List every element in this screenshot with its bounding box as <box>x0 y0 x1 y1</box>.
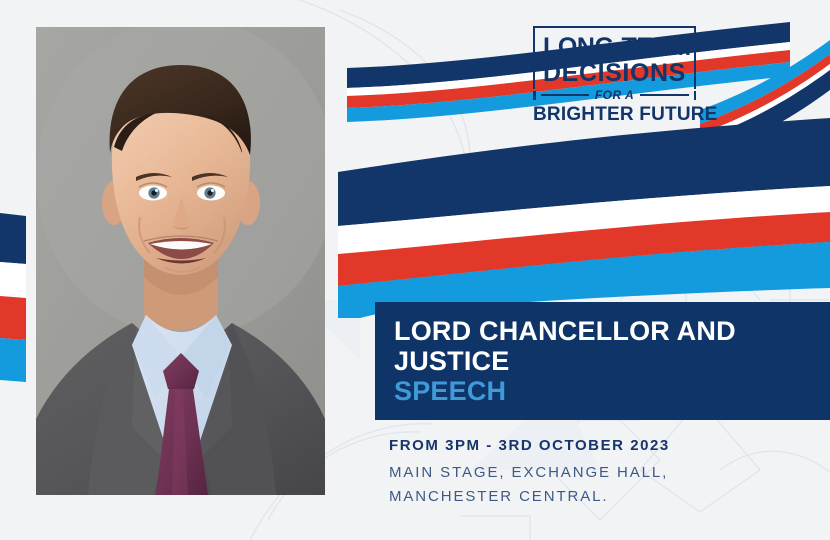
event-title-line-2: JUSTICE <box>394 346 830 376</box>
event-title-line-3: SPEECH <box>394 376 830 406</box>
event-banner: LONG-TERM DECISIONS FOR A BRIGHTER FUTUR… <box>0 0 830 540</box>
logo-left-tick <box>533 91 536 100</box>
logo-line-3: BRIGHTER FUTURE <box>533 104 696 125</box>
event-venue-line-2: MANCHESTER CENTRAL. <box>389 485 670 509</box>
event-venue-line-1: MAIN STAGE, EXCHANGE HALL, <box>389 461 670 485</box>
portrait-photo <box>36 27 325 495</box>
event-title-line-1: LORD CHANCELLOR AND <box>394 316 830 346</box>
logo-left-rule <box>541 94 589 97</box>
logo-right-tick <box>694 91 697 100</box>
logo-connector: FOR A <box>594 89 635 101</box>
main-band-stripes <box>338 118 830 318</box>
avatar <box>36 27 325 495</box>
event-title-panel: LORD CHANCELLOR AND JUSTICE SPEECH <box>375 302 830 420</box>
event-details: FROM 3PM - 3RD OCTOBER 2023 MAIN STAGE, … <box>389 436 670 509</box>
logo-divider-row: FOR A <box>533 89 696 101</box>
campaign-logo: LONG-TERM DECISIONS FOR A BRIGHTER FUTUR… <box>533 26 696 125</box>
logo-line-1: LONG-TERM <box>543 35 686 60</box>
logo-box: LONG-TERM DECISIONS <box>533 26 696 89</box>
top-right-swoosh <box>700 40 830 160</box>
event-date: FROM 3PM - 3RD OCTOBER 2023 <box>389 436 670 455</box>
left-edge-ribbon <box>0 213 26 382</box>
logo-line-2: DECISIONS <box>543 60 686 86</box>
logo-right-rule <box>640 94 688 97</box>
